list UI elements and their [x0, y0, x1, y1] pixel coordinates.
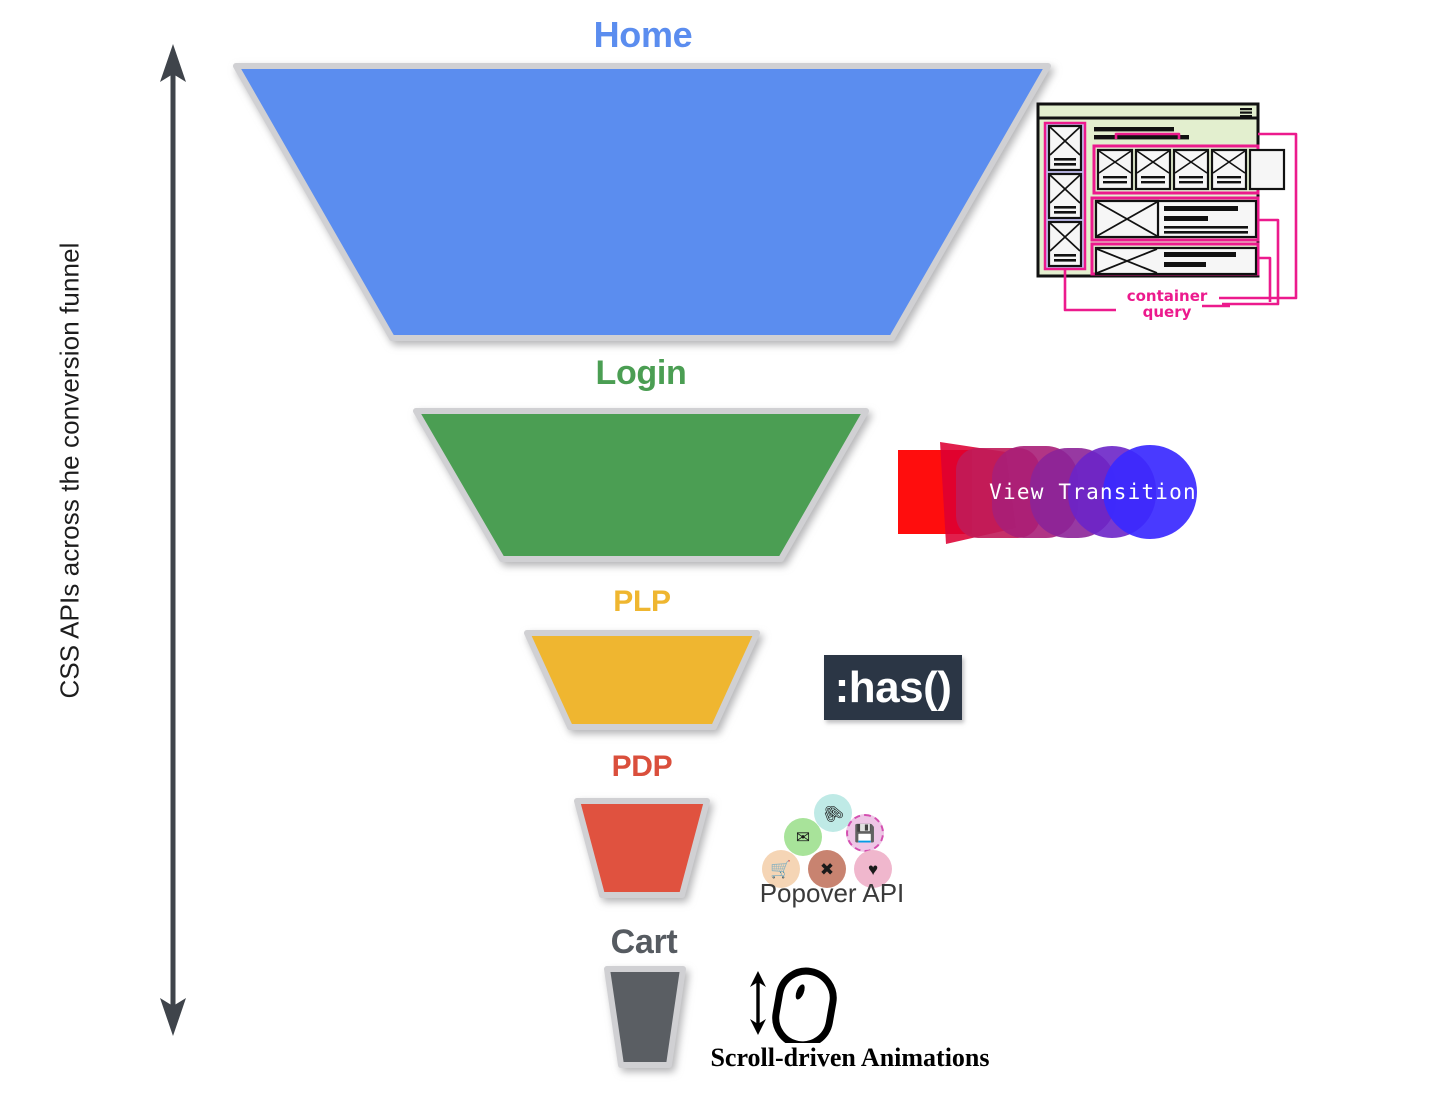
floppy-disk-icon[interactable]: 💾	[846, 814, 884, 852]
funnel-segment-pdp[interactable]	[572, 796, 712, 900]
funnel-segment-login[interactable]	[411, 406, 871, 564]
funnel-label-pdp: PDP	[442, 750, 842, 784]
funnel-diagram-canvas: CSS APIs across the conversion funnel Ho…	[0, 0, 1432, 1094]
has-selector-badge: :has()	[824, 655, 962, 720]
close-x-glyph: ✖	[820, 861, 834, 878]
scroll-driven-animations-caption: Scroll-driven Animations	[700, 1043, 1000, 1073]
funnel-label-home: Home	[443, 14, 843, 56]
funnel-segment-cart[interactable]	[602, 964, 688, 1070]
funnel-label-plp: PLP	[442, 585, 842, 619]
funnel-segment-plp[interactable]	[522, 628, 762, 732]
vertical-axis	[148, 40, 198, 1040]
popover-api-caption: Popover API	[704, 878, 960, 909]
heart-glyph: ♥	[868, 861, 878, 878]
funnel-label-cart: Cart	[444, 923, 844, 962]
paperclip-glyph: 🖇	[819, 800, 846, 826]
funnel-segment-home[interactable]	[232, 62, 1052, 342]
mouse-with-vertical-arrow-icon	[700, 963, 1000, 1043]
funnel-label-login: Login	[441, 354, 841, 393]
morphing-shapes-icon	[888, 432, 1218, 552]
container-query-wireframe: container query	[1034, 92, 1334, 342]
scroll-driven-animations-graphic: Scroll-driven Animations	[700, 963, 1000, 1083]
double-arrow-vertical-icon	[148, 40, 198, 1040]
axis-label: CSS APIs across the conversion funnel	[55, 101, 86, 841]
floppy-disk-glyph: 💾	[854, 825, 875, 842]
shopping-cart-glyph: 🛒	[770, 861, 791, 878]
container-query-caption-line2: query	[1112, 305, 1222, 321]
view-transition-graphic: View Transition	[888, 432, 1218, 552]
envelope-glyph: ✉	[796, 829, 810, 846]
